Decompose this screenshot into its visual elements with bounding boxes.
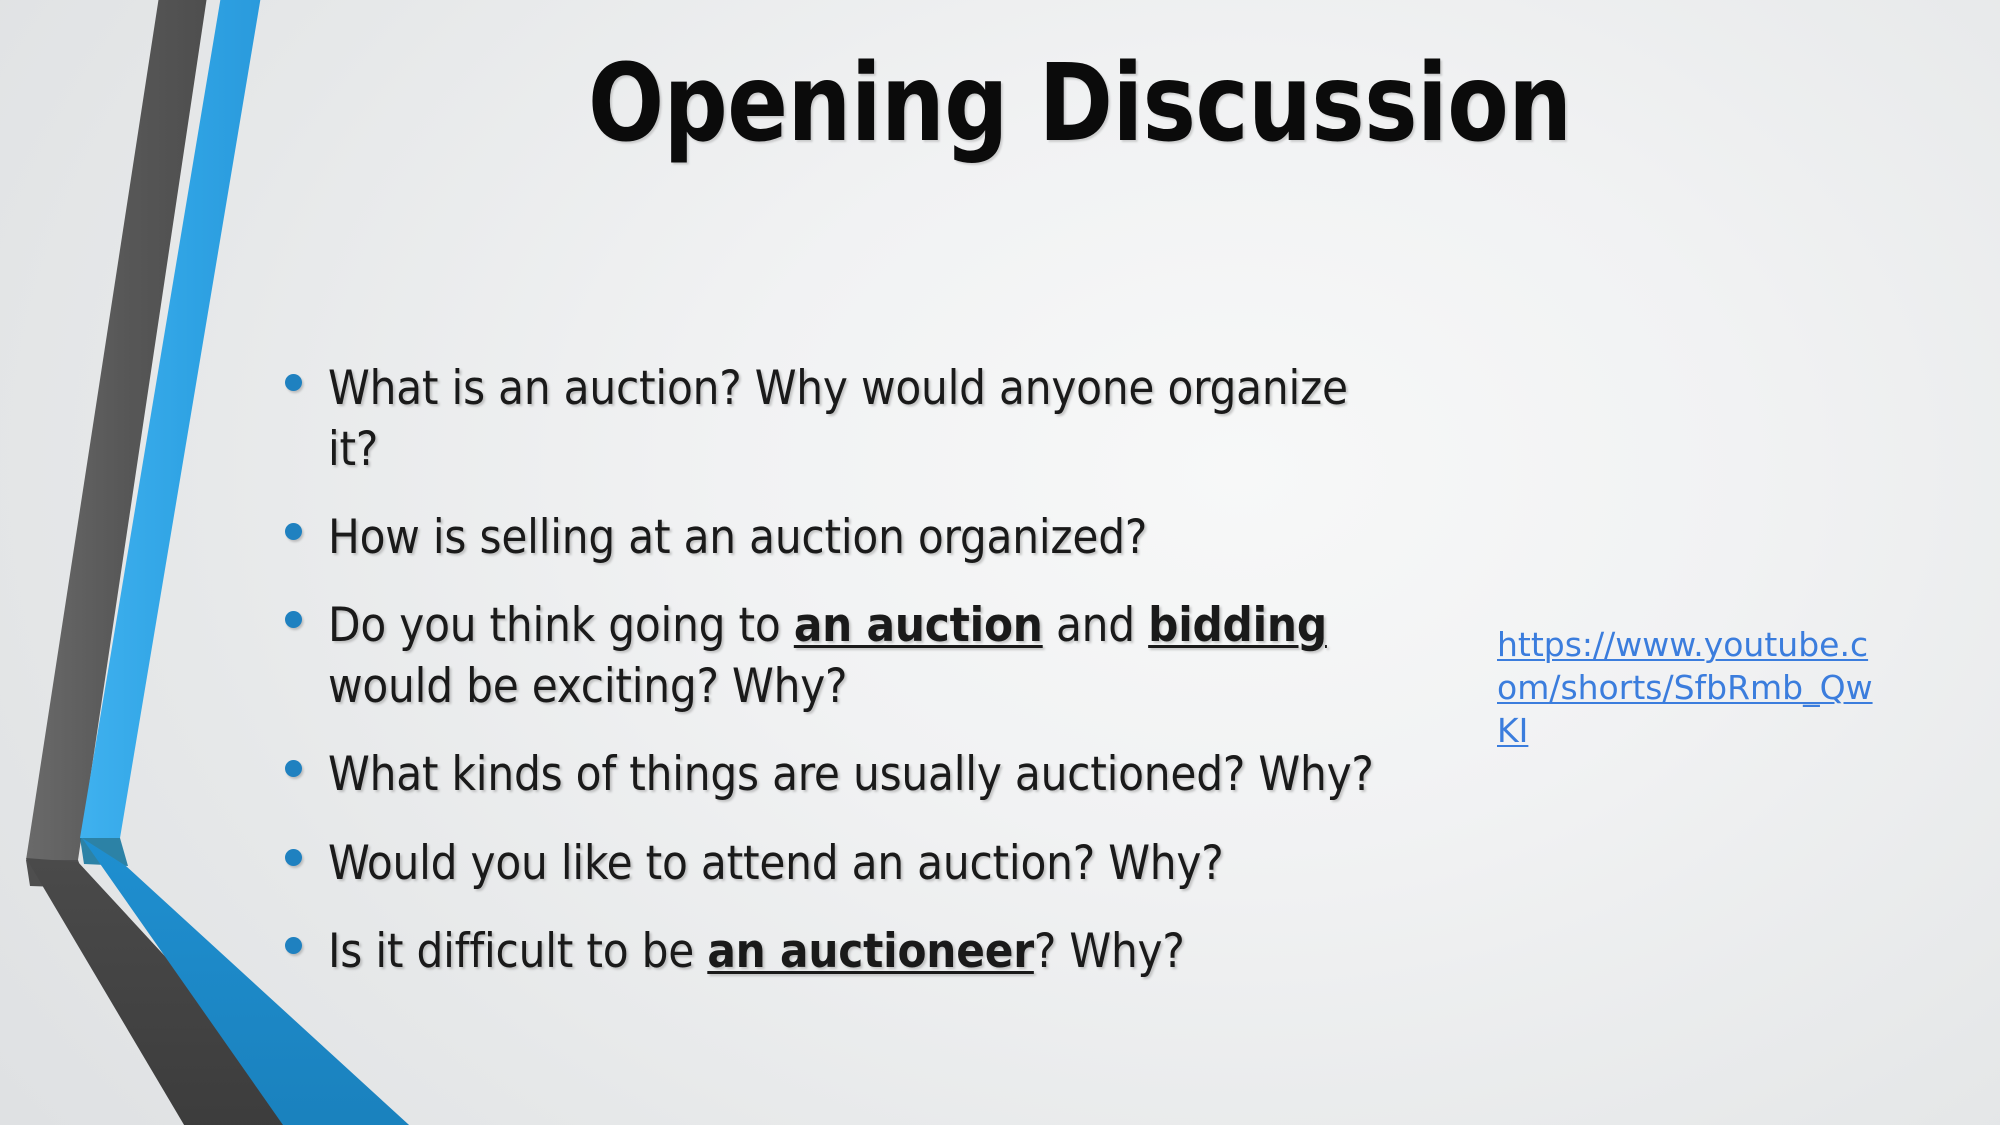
slide-title: Opening Discussion	[300, 48, 1860, 161]
emphasised-term: bidding	[1148, 598, 1327, 653]
list-item-label: What kinds of things are usually auction…	[328, 744, 1410, 805]
list-item: Is it difficult to be an auctioneer? Why…	[285, 921, 1410, 982]
list-item-label: Would you like to attend an auction? Why…	[328, 833, 1410, 894]
list-item-label: What is an auction? Why would anyone org…	[328, 358, 1410, 480]
list-item: Would you like to attend an auction? Why…	[285, 833, 1410, 894]
list-item: What is an auction? Why would anyone org…	[285, 358, 1410, 480]
text-run: What kinds of things are usually auction…	[328, 747, 1374, 802]
list-item-label: Is it difficult to be an auctioneer? Why…	[328, 921, 1410, 982]
text-run: ? Why?	[1034, 924, 1185, 979]
bullet-dot-icon	[285, 611, 302, 628]
youtube-shorts-link[interactable]: https://www.youtube.com/shorts/SfbRmb_Qw…	[1497, 624, 1877, 753]
text-run: What is an auction? Why would anyone org…	[328, 361, 1348, 477]
list-item: Do you think going to an auction and bid…	[285, 595, 1410, 717]
bullet-dot-icon	[285, 760, 302, 777]
bullet-dot-icon	[285, 849, 302, 866]
list-item: What kinds of things are usually auction…	[285, 744, 1410, 805]
emphasised-term: an auctioneer	[707, 924, 1034, 979]
text-run: Do you think going to	[328, 598, 794, 653]
text-run: and	[1043, 598, 1148, 653]
list-item: How is selling at an auction organized?	[285, 507, 1410, 568]
list-item-label: Do you think going to an auction and bid…	[328, 595, 1410, 717]
ribbon-gray-upper	[26, 0, 208, 860]
presentation-slide: Opening Discussion What is an auction? W…	[0, 0, 2000, 1125]
page-title: Opening Discussion	[588, 48, 1572, 161]
text-run: Would you like to attend an auction? Why…	[328, 836, 1223, 891]
emphasised-term: an auction	[794, 598, 1043, 653]
hyperlink-block: https://www.youtube.com/shorts/SfbRmb_Qw…	[1497, 624, 1877, 753]
ribbon-gray-fold	[26, 860, 88, 888]
text-run: Is it difficult to be	[328, 924, 707, 979]
text-run: How is selling at an auction organized?	[328, 510, 1147, 565]
text-run: would be exciting? Why?	[328, 659, 847, 714]
ribbon-blue-fold	[80, 838, 128, 866]
bullet-dot-icon	[285, 523, 302, 540]
bullet-dot-icon	[285, 374, 302, 391]
bullet-list: What is an auction? Why would anyone org…	[285, 358, 1410, 1009]
bullet-dot-icon	[285, 937, 302, 954]
ribbon-blue-upper	[80, 0, 262, 838]
list-item-label: How is selling at an auction organized?	[328, 507, 1410, 568]
